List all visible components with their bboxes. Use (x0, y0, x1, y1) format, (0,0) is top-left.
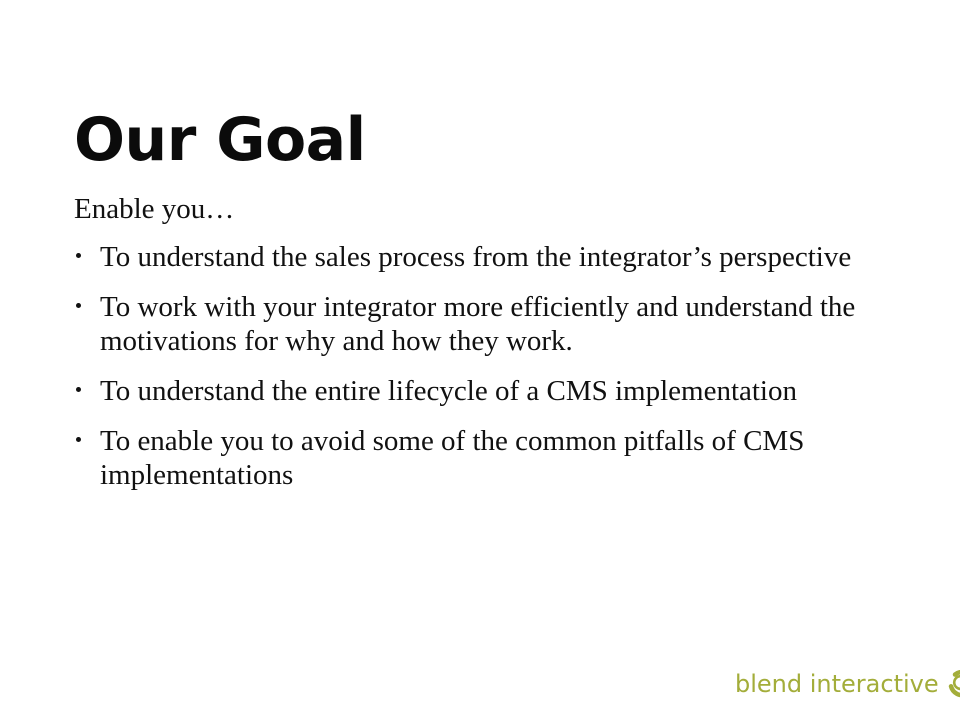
list-item-label: To enable you to avoid some of the commo… (100, 424, 874, 492)
bullet-dot-icon (76, 437, 81, 442)
intro-text: Enable you… (74, 192, 874, 226)
brand-logo: blend interactive (735, 670, 960, 698)
bullet-list: To understand the sales process from the… (74, 240, 874, 492)
list-item-label: To work with your integrator more effici… (100, 290, 874, 358)
brand-wordmark: blend interactive (735, 670, 939, 698)
slide-body: Enable you… To understand the sales proc… (74, 192, 874, 492)
spiral-swirl-icon (947, 670, 960, 698)
presentation-slide: Our Goal Enable you… To understand the s… (0, 0, 960, 720)
bullet-dot-icon (76, 387, 81, 392)
list-item: To work with your integrator more effici… (74, 290, 874, 358)
bullet-dot-icon (76, 253, 81, 258)
list-item: To understand the entire lifecycle of a … (74, 374, 874, 408)
bullet-dot-icon (76, 303, 81, 308)
list-item: To understand the sales process from the… (74, 240, 874, 274)
list-item: To enable you to avoid some of the commo… (74, 424, 874, 492)
list-item-label: To understand the sales process from the… (100, 240, 874, 274)
list-item-label: To understand the entire lifecycle of a … (100, 374, 874, 408)
page-title: Our Goal (74, 106, 366, 174)
